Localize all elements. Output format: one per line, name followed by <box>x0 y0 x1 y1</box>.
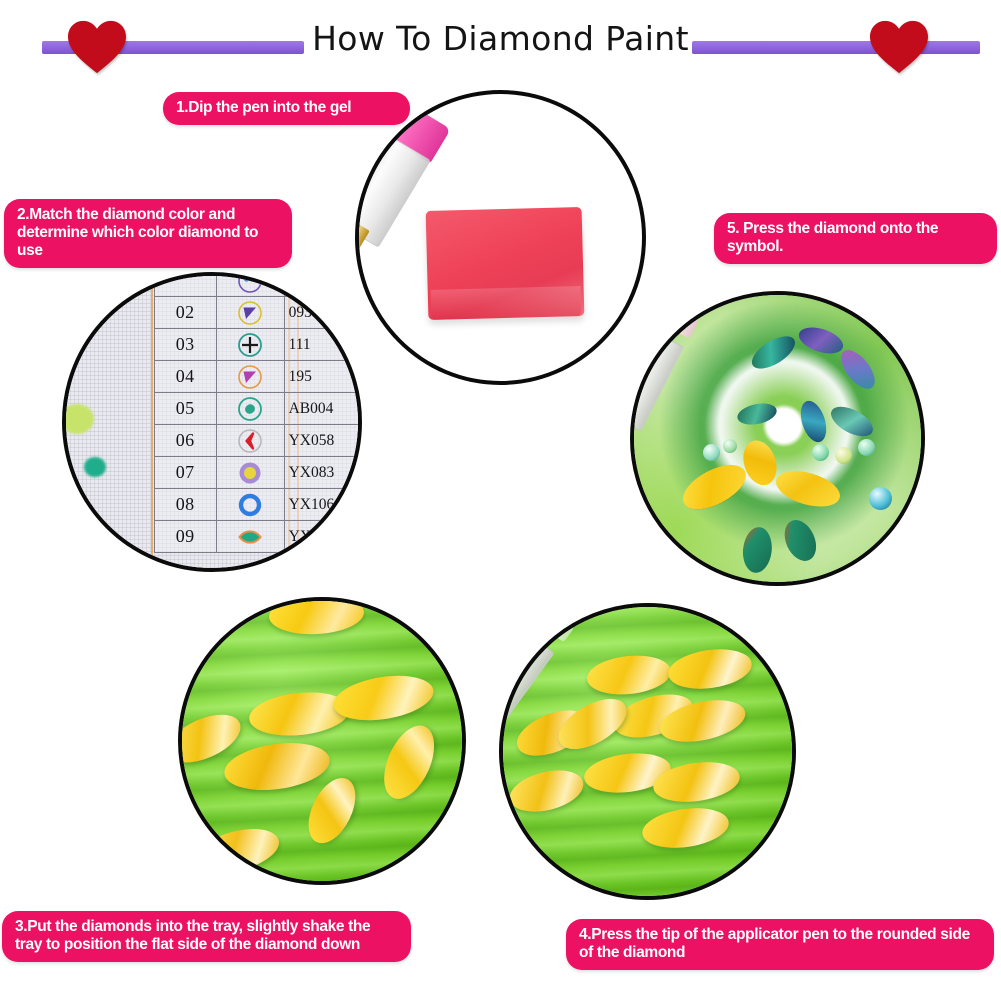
capsule-symbol <box>216 393 284 425</box>
rhinestone <box>858 439 875 456</box>
step-2-photo: 02002 09303 11104 19505 AB00406 YX05807Y… <box>62 272 362 572</box>
color-chart-body: 02002 09303 11104 19505 AB00406 YX05807Y… <box>154 272 362 553</box>
color-chart-number: 07 <box>154 457 216 489</box>
rhinestone <box>723 439 737 453</box>
page-title: How To Diamond Paint <box>0 19 1001 58</box>
step-2-label: 2.Match the diamond color and determine … <box>4 199 292 268</box>
leaf-symbol <box>216 521 284 553</box>
chevron-symbol <box>216 425 284 457</box>
step-4-label: 4.Press the tip of the applicator pen to… <box>566 919 994 970</box>
step-1-photo <box>355 90 646 385</box>
color-chart-row: 08YX106 <box>154 489 362 521</box>
step-5-label: 5. Press the diamond onto the symbol. <box>714 213 997 264</box>
plus-symbol <box>216 329 284 361</box>
color-chart-code: 020 <box>284 272 362 297</box>
color-chart-number: 09 <box>154 521 216 553</box>
color-chart-number: 06 <box>154 425 216 457</box>
color-chart-code: YX106 <box>284 489 362 521</box>
color-chart-row: 07YX083 <box>154 457 362 489</box>
color-chart-number: 05 <box>154 393 216 425</box>
color-chart-code: 195 <box>284 361 362 393</box>
gel-pad <box>426 207 584 320</box>
pen-tip <box>630 408 633 452</box>
color-chart-row: 06 YX058 <box>154 425 362 457</box>
color-chart-table: 02002 09303 11104 19505 AB00406 YX05807Y… <box>154 272 362 553</box>
infographic-poster: How To Diamond Paint 1.Dip the pen into … <box>0 0 1001 1001</box>
triangle-symbol <box>216 297 284 329</box>
color-chart-row: 02 093 <box>154 297 362 329</box>
color-chart-code: YX125 <box>284 521 362 553</box>
color-chart-number: 03 <box>154 329 216 361</box>
color-chart-row: 09YX125 <box>154 521 362 553</box>
double-dot-circle-symbol <box>216 272 284 297</box>
triangle-symbol <box>216 361 284 393</box>
color-chart-code: AB004 <box>284 393 362 425</box>
canvas-print-blotch <box>84 457 106 477</box>
step-3-photo <box>178 597 466 885</box>
color-chart-code: 093 <box>284 297 362 329</box>
step-4-photo <box>499 603 796 900</box>
color-chart-row: 020 <box>154 272 362 297</box>
color-chart-number: 04 <box>154 361 216 393</box>
color-chart-number <box>154 272 216 297</box>
color-chart-number: 02 <box>154 297 216 329</box>
ring-symbol <box>216 489 284 521</box>
color-chart-number: 08 <box>154 489 216 521</box>
color-chart-row: 03 111 <box>154 329 362 361</box>
step-5-photo <box>630 291 925 586</box>
dot-in-circle-symbol <box>216 457 284 489</box>
color-chart-code: YX083 <box>284 457 362 489</box>
color-chart-code: YX058 <box>284 425 362 457</box>
step-3-label: 3.Put the diamonds into the tray, slight… <box>2 911 411 962</box>
canvas-guide-line <box>151 276 153 568</box>
color-chart-row: 04 195 <box>154 361 362 393</box>
color-chart-code: 111 <box>284 329 362 361</box>
color-chart-row: 05 AB004 <box>154 393 362 425</box>
